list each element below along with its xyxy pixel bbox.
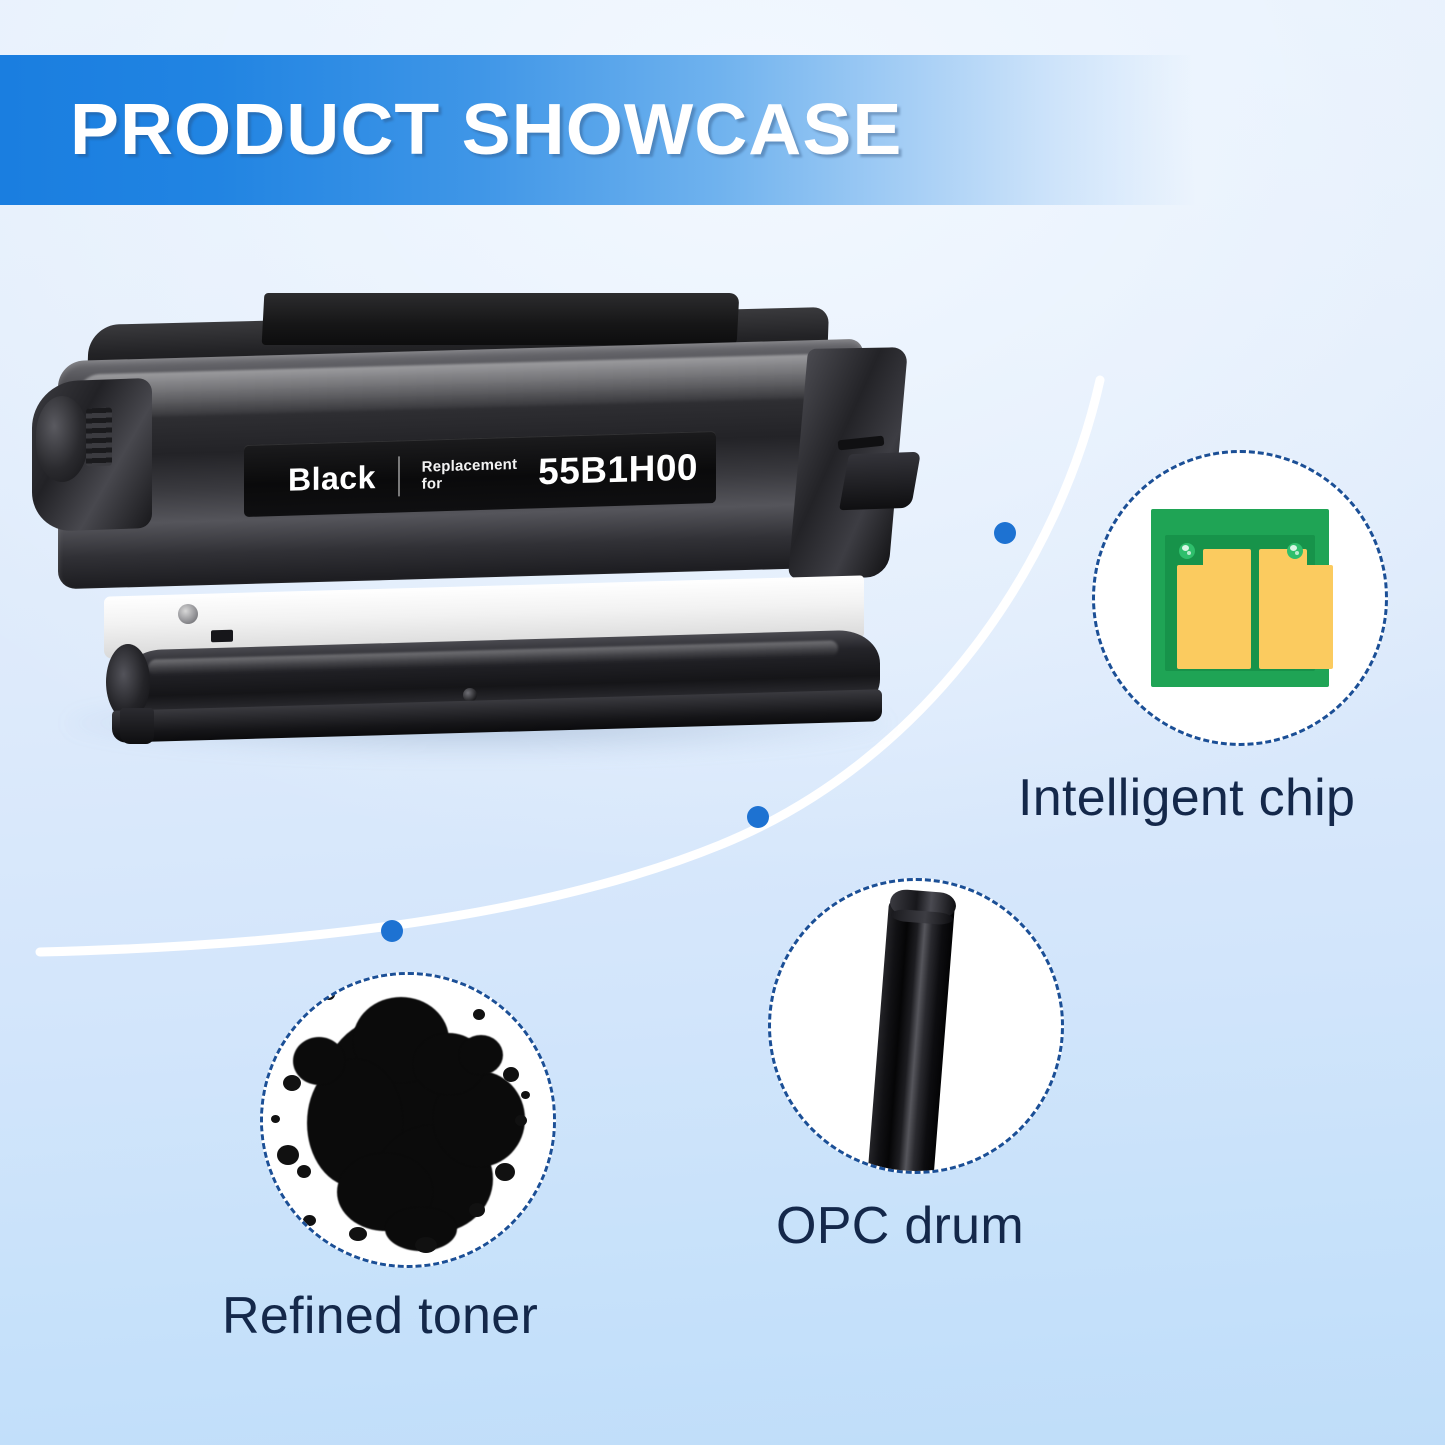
cartridge-label-replacement-line2: for [422, 475, 443, 493]
callout-label-opc-drum: OPC drum [776, 1196, 1024, 1256]
callout-label-refined-toner: Refined toner [222, 1286, 538, 1346]
cartridge-label-divider [398, 456, 400, 496]
chip-circle-frame [1092, 450, 1388, 746]
chip-icon [1151, 509, 1329, 687]
chip-via-left [1179, 543, 1195, 559]
cartridge-label-replacement: Replacement for [422, 456, 528, 493]
toner-cartridge-image: Black Replacement for 55B1H00 [28, 288, 928, 758]
toner-circle-frame [260, 972, 556, 1268]
cartridge-label-color: Black [288, 459, 376, 499]
callout-label-intelligent-chip: Intelligent chip [1018, 768, 1355, 828]
cartridge-label: Black Replacement for 55B1H00 [244, 431, 716, 517]
drum-circle-frame [768, 878, 1064, 1174]
chip-contact-pad-right [1259, 565, 1333, 669]
cartridge-handle-plate [262, 293, 740, 345]
chip-contact-pad-left [1177, 565, 1251, 669]
cartridge-blade-notch [211, 630, 233, 643]
cartridge-left-gear-knob [36, 396, 88, 482]
product-showcase-page: PRODUCT SHOWCASE Black Replacement for 5… [0, 0, 1445, 1445]
connector-dot-3 [381, 920, 403, 942]
chip-contact-pad-left-riser [1203, 549, 1251, 569]
header-banner: PRODUCT SHOWCASE [0, 55, 1195, 205]
connector-dot-2 [747, 806, 769, 828]
cartridge-blade-screw [178, 604, 198, 624]
cartridge-left-ribs [86, 408, 112, 467]
cartridge-right-bracket [839, 452, 921, 511]
connector-dot-1 [994, 522, 1016, 544]
page-title: PRODUCT SHOWCASE [70, 89, 902, 171]
cartridge-label-replacement-line1: Replacement [422, 456, 518, 476]
chip-via-right [1287, 543, 1303, 559]
cartridge-label-model: 55B1H00 [538, 447, 698, 494]
drum-icon [866, 900, 955, 1174]
cartridge-bottom-foot [120, 708, 154, 744]
